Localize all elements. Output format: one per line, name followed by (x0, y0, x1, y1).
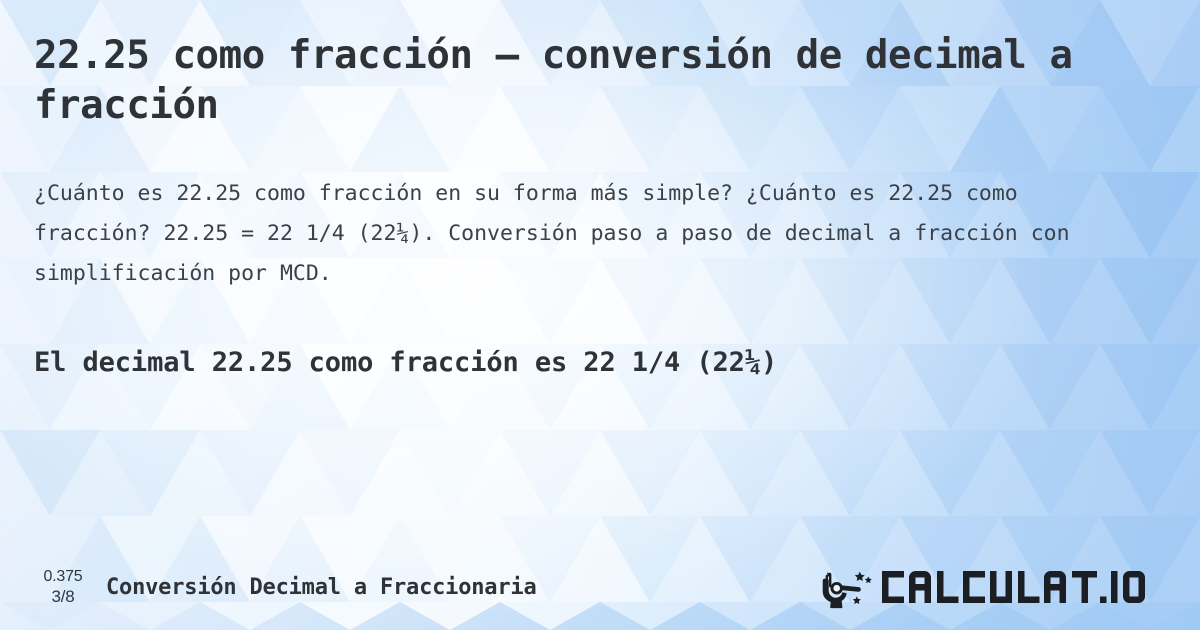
page-title: 22.25 como fracción – conversión de deci… (34, 31, 1154, 131)
card-footer: 0.375 3/8 Conversión Decimal a Fracciona… (0, 544, 1200, 630)
brand-wordmark (878, 567, 1166, 607)
answer-statement: El decimal 22.25 como fracción es 22 1/4… (34, 344, 1174, 382)
decimal-fraction-icon-decimal: 0.375 (43, 569, 82, 585)
page-description: ¿Cuánto es 22.25 como fracción en su for… (34, 174, 1144, 294)
decimal-fraction-icon: 0.375 3/8 (34, 569, 92, 605)
social-share-card: 22.25 como fracción – conversión de deci… (0, 0, 1200, 630)
card-content: 22.25 como fracción – conversión de deci… (0, 0, 1200, 630)
brand-logo[interactable]: CALCULAT.IO (820, 565, 1166, 609)
hand-magic-wand-icon (820, 565, 876, 609)
decimal-fraction-icon-fraction: 3/8 (51, 588, 74, 605)
footer-title: Conversión Decimal a Fraccionaria (106, 575, 537, 600)
footer-left-group: 0.375 3/8 Conversión Decimal a Fracciona… (34, 569, 537, 605)
